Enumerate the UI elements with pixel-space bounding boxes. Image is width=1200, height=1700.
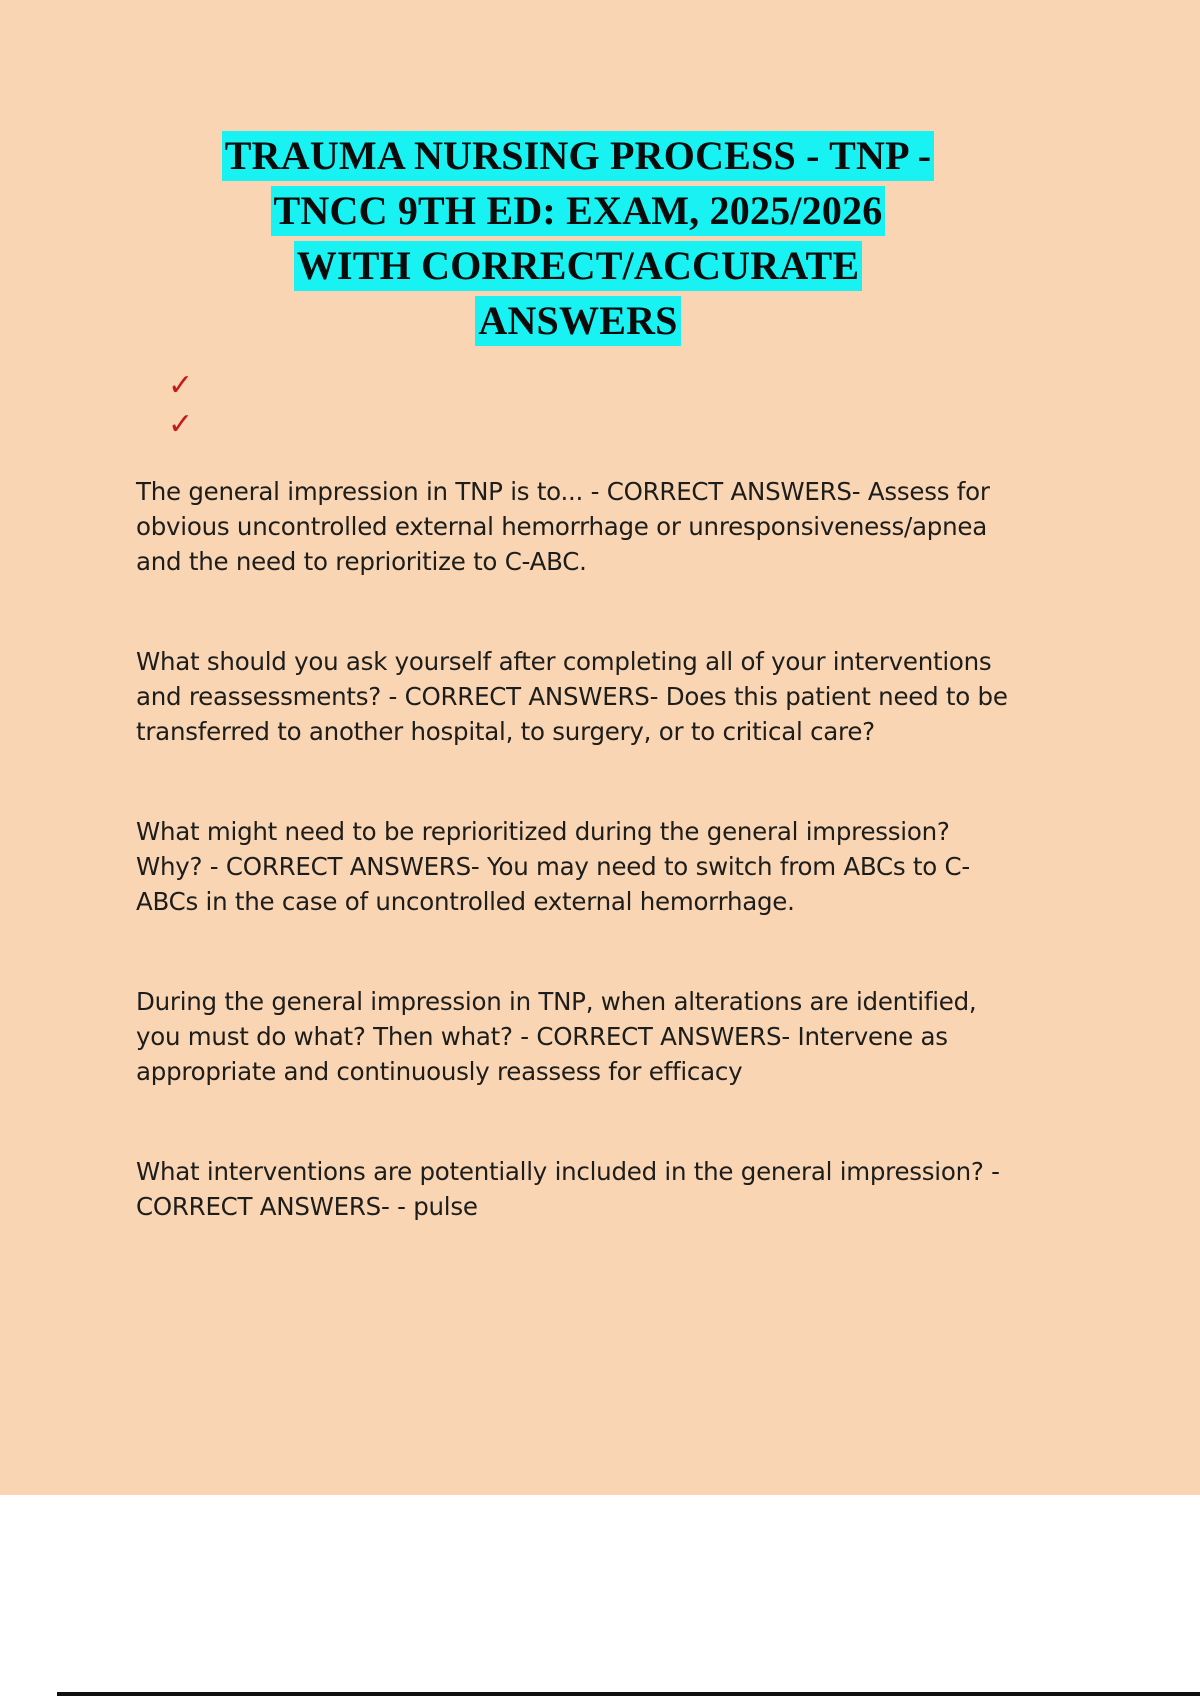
page-title-highlight-2: TNCC 9TH ED: EXAM, 2025/2026 — [271, 186, 886, 236]
document-page-sheet: TRAUMA NURSING PROCESS - TNP - TNCC 9TH … — [0, 0, 1200, 1495]
page-title-line-2: TNCC 9TH ED: EXAM, 2025/2026 — [148, 183, 1008, 238]
qa-block-4: During the general impression in TNP, wh… — [136, 984, 1012, 1089]
page-title-highlight-1: TRAUMA NURSING PROCESS - TNP - — [222, 131, 934, 181]
checkmark-icon-2: ✓ — [168, 405, 288, 444]
page-title-highlight-3: WITH CORRECT/ACCURATE — [294, 241, 862, 291]
checkmark-list: ✓ ✓ — [168, 366, 288, 444]
qa-block-2: What should you ask yourself after compl… — [136, 644, 1012, 749]
page-title-highlight-4: ANSWERS — [475, 296, 680, 346]
qa-block-5: What interventions are potentially inclu… — [136, 1154, 1012, 1224]
qa-block-3: What might need to be reprioritized duri… — [136, 814, 1012, 919]
qa-body: The general impression in TNP is to... -… — [136, 474, 1012, 1224]
qa-block-1: The general impression in TNP is to... -… — [136, 474, 1012, 579]
page-title-line-1: TRAUMA NURSING PROCESS - TNP - — [148, 128, 1008, 183]
footer-divider — [57, 1692, 1200, 1696]
page-title-line-3: WITH CORRECT/ACCURATE — [148, 238, 1008, 293]
page-title-line-4: ANSWERS — [148, 293, 1008, 348]
page-title: TRAUMA NURSING PROCESS - TNP - TNCC 9TH … — [148, 128, 1008, 348]
checkmark-icon-1: ✓ — [168, 366, 288, 405]
